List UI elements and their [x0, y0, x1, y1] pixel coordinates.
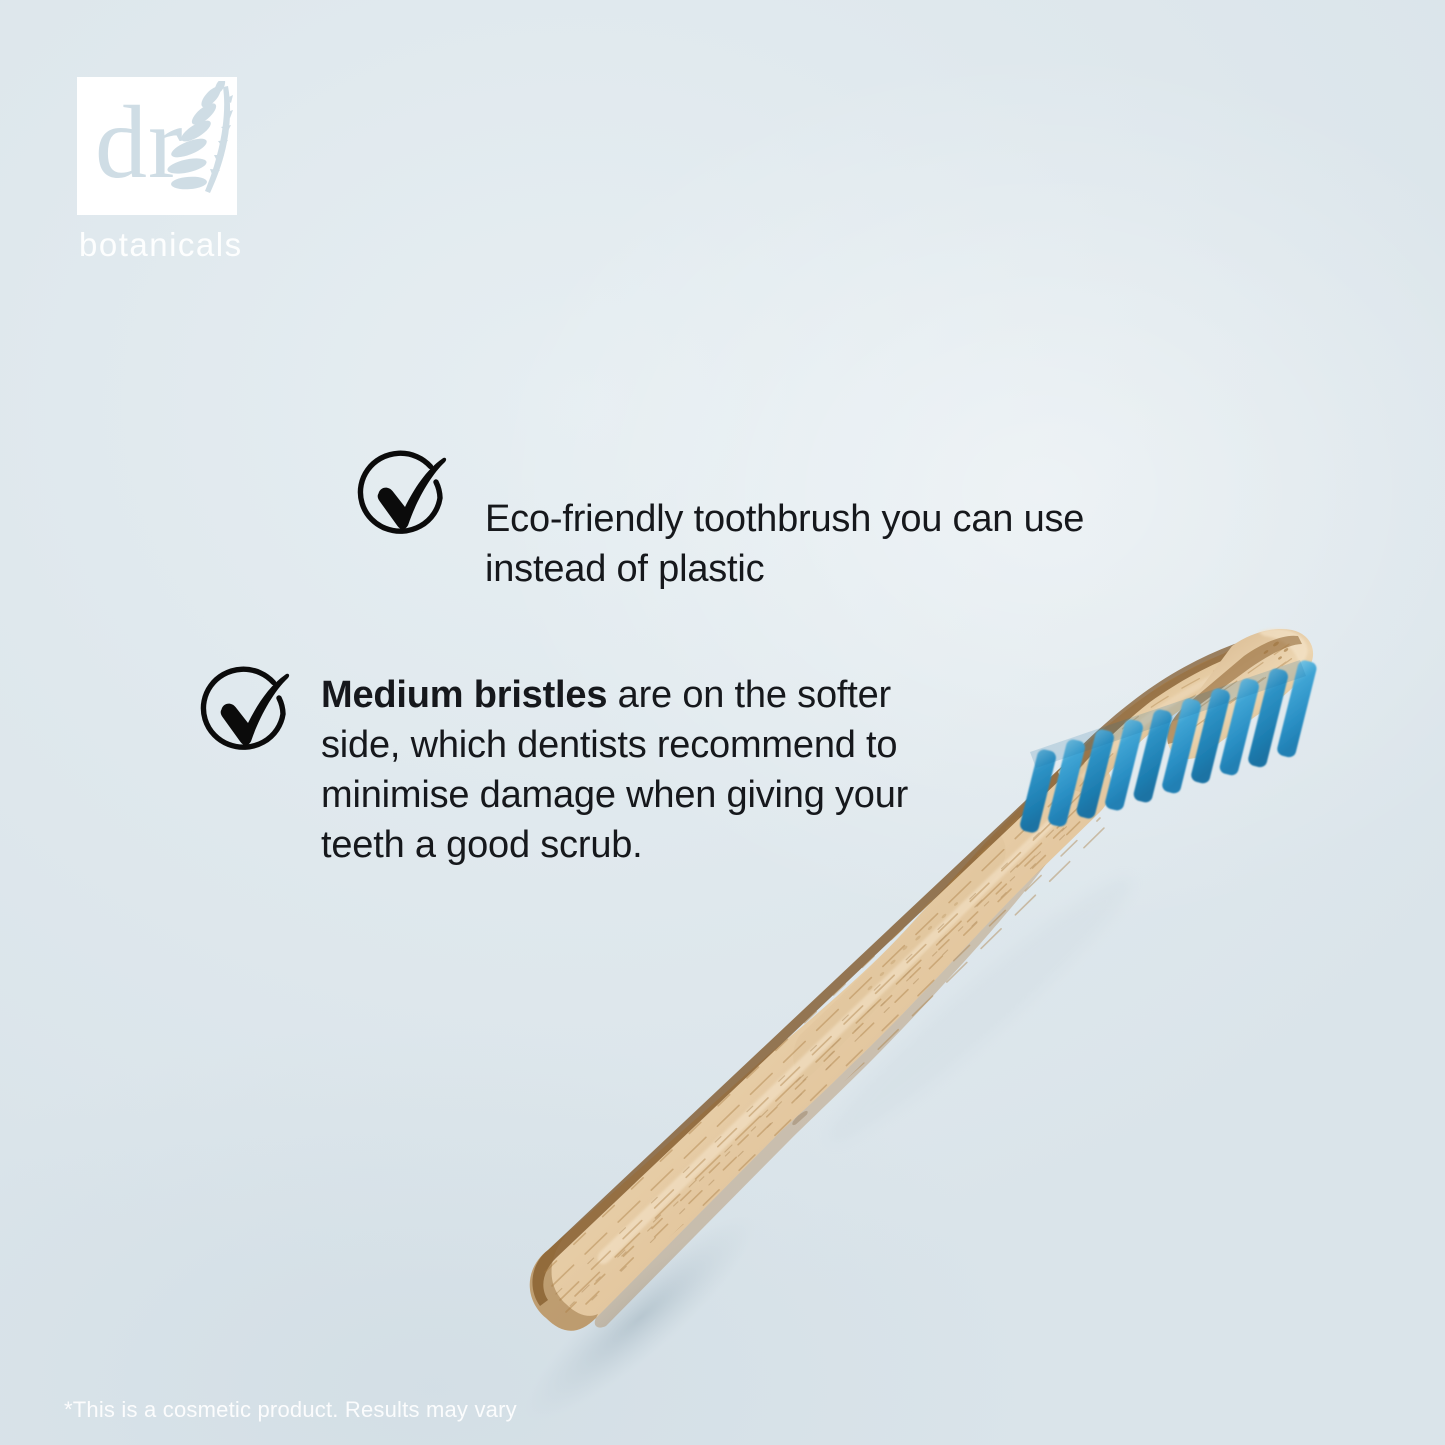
feature-bullet-2: Medium bristles are on the softer side, … [199, 660, 908, 871]
handle-soft-shadow [812, 859, 1148, 1161]
disclaimer-text: *This is a cosmetic product. Results may… [64, 1397, 517, 1423]
handle-nick [791, 1109, 810, 1127]
handle-bottom-shading [595, 864, 1046, 1328]
handle-contact-shadow [503, 1192, 777, 1443]
fern-frond-icon [163, 81, 235, 197]
head-body [1167, 629, 1313, 759]
neck-top-bevel [1062, 642, 1244, 775]
logo-mark: dr [77, 77, 237, 215]
check-circle-icon [356, 446, 460, 550]
feature-bullet-1: Eco-friendly toothbrush you can use inst… [356, 444, 1084, 594]
toothbrush-neck [1058, 642, 1252, 792]
check-circle-icon [199, 662, 303, 766]
handle-tip-shading [530, 1228, 598, 1331]
feature-bullet-2-text: Medium bristles are on the softer side, … [321, 670, 908, 871]
head-top-bevel [1167, 636, 1302, 744]
handle-highlight [598, 817, 1058, 1265]
neck-highlight [1080, 662, 1242, 782]
brand-logo: dr [77, 77, 252, 261]
bristle-tufts [1019, 659, 1318, 834]
product-marketing-image: dr [0, 0, 1445, 1445]
bullet-1-body: Eco-friendly toothbrush you can use inst… [485, 498, 1084, 590]
head-tip-highlight [1258, 629, 1307, 666]
bullet-2-lede: Medium bristles [321, 674, 607, 716]
feature-bullet-1-text: Eco-friendly toothbrush you can use inst… [485, 444, 1084, 594]
bristle-base-shadow [1030, 660, 1306, 768]
logo-wordmark: botanicals [79, 228, 252, 261]
neck-body [1058, 648, 1252, 792]
toothbrush-head [1167, 629, 1313, 759]
